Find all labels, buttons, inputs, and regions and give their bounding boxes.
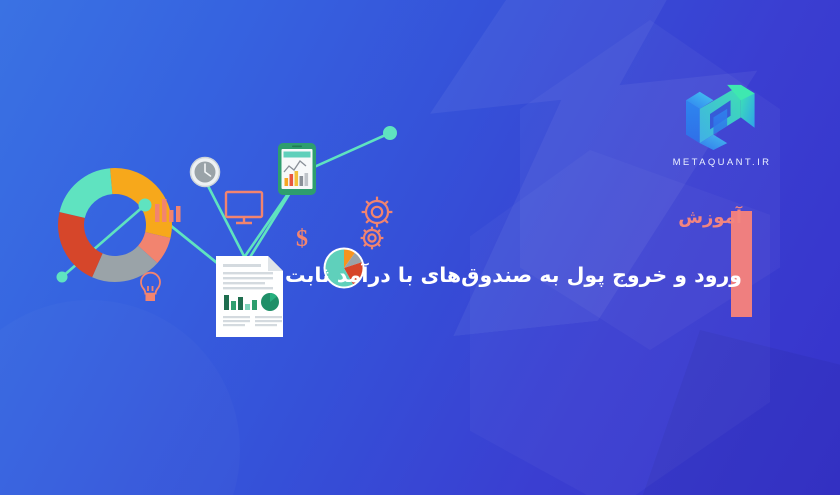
background-corner-shape: [610, 330, 840, 495]
illustration-group: $: [0, 0, 470, 400]
monitor-icon: [226, 192, 262, 223]
document-report-icon: [216, 256, 283, 337]
gears-icon: [361, 197, 393, 250]
line-node: [383, 126, 397, 140]
lightbulb-icon: [141, 273, 160, 301]
donut-chart-icon: [67, 177, 162, 272]
kicker-label: آموزش: [678, 207, 742, 228]
promo-banner: $: [0, 0, 840, 495]
line-node: [139, 199, 152, 212]
background-hexagon-shape-2: [470, 150, 770, 495]
logo-wordmark: METAQUANT.IR: [662, 157, 782, 168]
brand-logo[interactable]: METAQUANT.IR: [662, 78, 782, 168]
page-title: ورود و خروج پول به صندوق‌های با درآمد ثا…: [285, 263, 742, 287]
metaquant-infinity-logo-icon: [679, 78, 765, 150]
dollar-sign-icon: $: [296, 226, 308, 252]
svg-text:$: $: [296, 226, 308, 252]
clock-icon: [191, 158, 220, 187]
line-node: [57, 272, 68, 283]
tablet-chart-icon: [278, 143, 316, 195]
infographic-svg: $: [0, 0, 470, 400]
